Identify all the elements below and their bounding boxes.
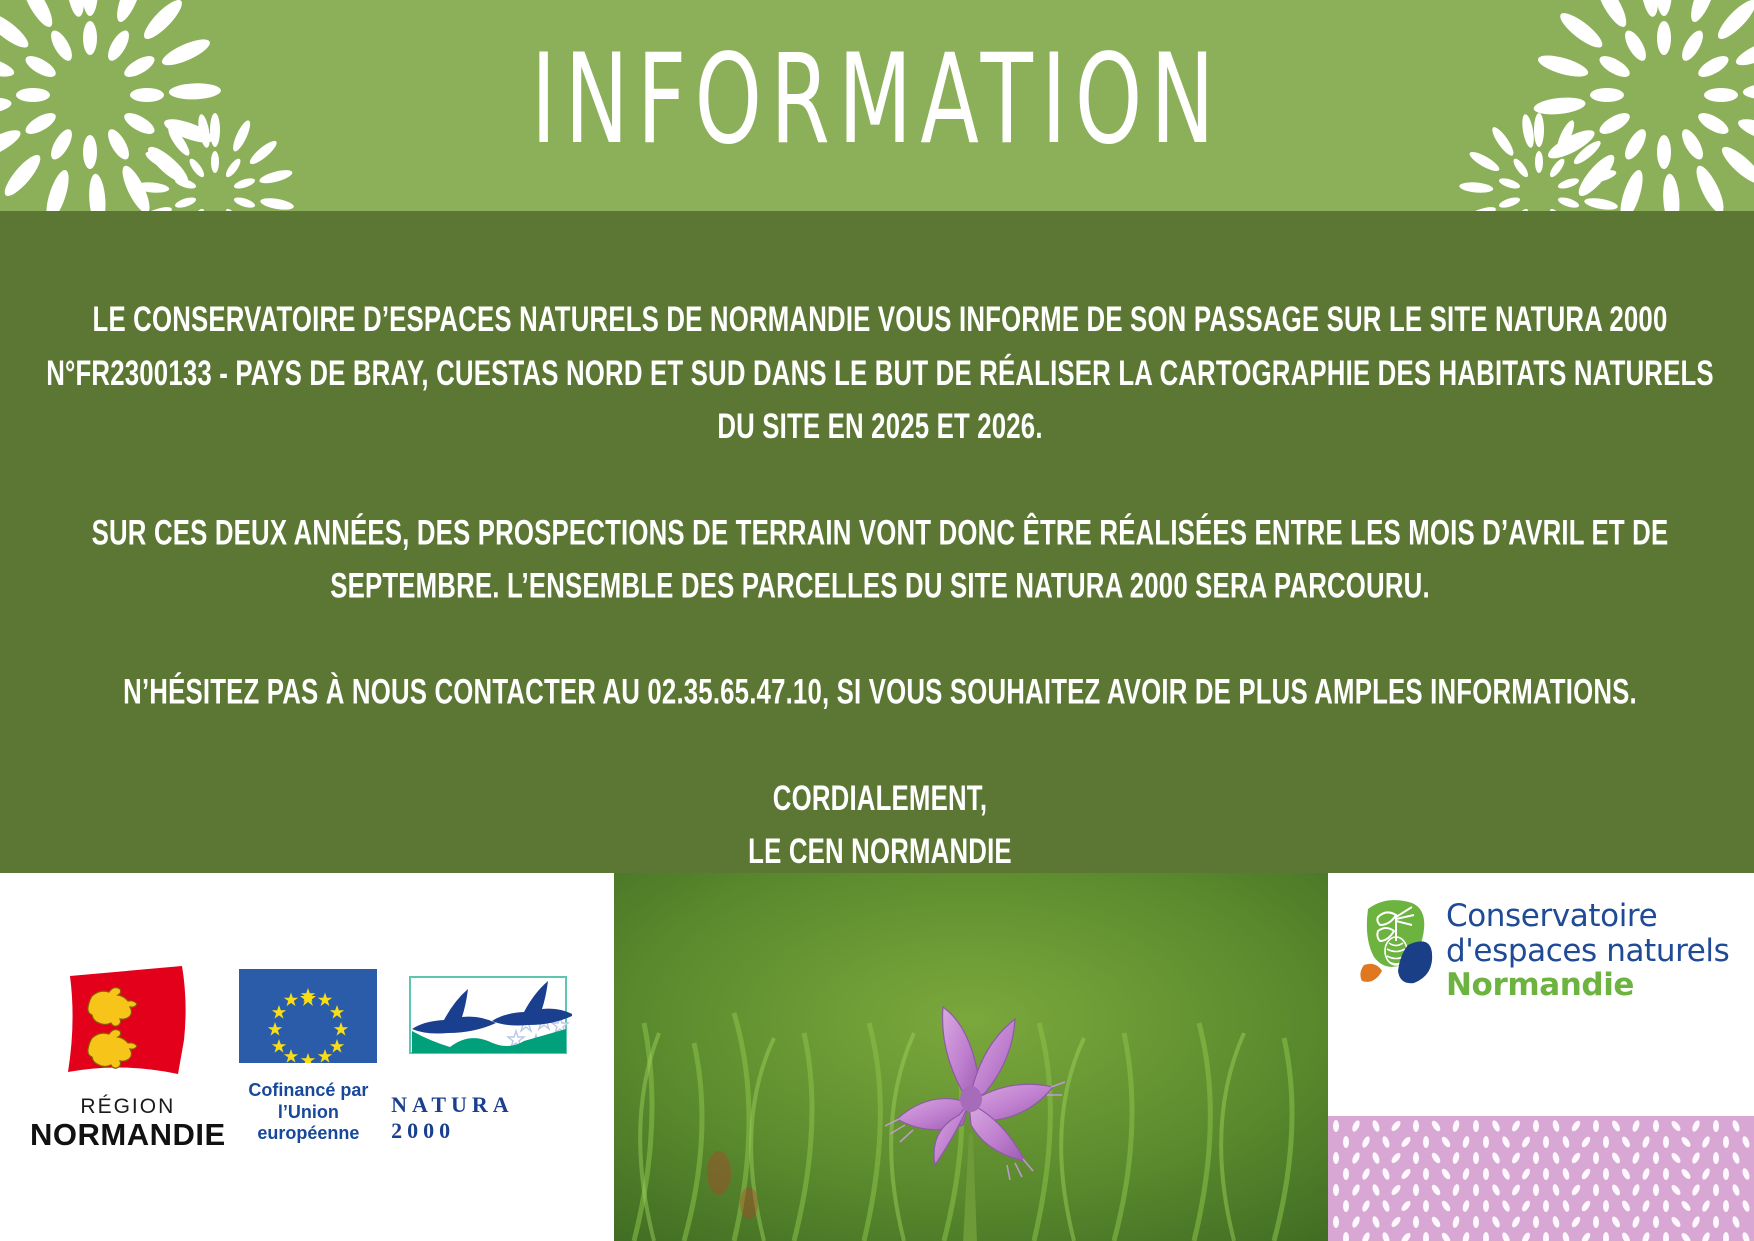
logo-region-normandie: RÉGION NORMANDIE	[30, 962, 226, 1152]
eu-label-line1: Cofinancé par	[248, 1080, 368, 1100]
cen-line-2: d'espaces naturels	[1446, 934, 1729, 969]
paragraph-spacer	[33, 720, 1727, 772]
cen-wordmark: Conservatoire d'espaces naturels Normand…	[1446, 891, 1729, 1003]
paragraph-spacer	[33, 454, 1727, 506]
cen-line-3: Normandie	[1446, 968, 1729, 1003]
page-title: INFORMATION	[61, 38, 1692, 162]
logo-cen-normandie: Conservatoire d'espaces naturels Normand…	[1328, 873, 1754, 1241]
gentian-flower-photo	[614, 873, 1328, 1241]
information-poster: INFORMATION LE CONSERVATOIRE D’ESPACES N…	[0, 0, 1754, 1241]
logo-natura-2000: NATURA 2000	[391, 971, 584, 1144]
natura2000-birds-icon	[404, 971, 572, 1084]
poster-header: INFORMATION	[0, 0, 1754, 233]
cen-line-1: Conservatoire	[1446, 899, 1729, 934]
region-label-big: NORMANDIE	[30, 1119, 226, 1152]
cen-leaf-butterfly-icon	[1356, 891, 1436, 996]
paragraph-3-contact: N’HÉSITEZ PAS À NOUS CONTACTER AU 02.35.…	[33, 666, 1727, 720]
announcement-text: LE CONSERVATOIRE D’ESPACES NATURELS DE N…	[33, 293, 1727, 879]
poster-footer: RÉGION NORMANDIE	[0, 873, 1754, 1241]
partner-logos: RÉGION NORMANDIE	[0, 873, 614, 1241]
natura2000-label: NATURA 2000	[391, 1092, 584, 1144]
eu-flag-icon	[239, 969, 377, 1068]
normandy-lions-flag-icon	[62, 962, 194, 1085]
eu-label-line2: l’Union européenne	[257, 1102, 359, 1144]
signoff-line-1: CORDIALEMENT,	[33, 772, 1727, 826]
signoff-line-2: LE CEN NORMANDIE	[33, 825, 1727, 879]
cen-logo-row: Conservatoire d'espaces naturels Normand…	[1356, 891, 1729, 1003]
paragraph-2: SUR CES DEUX ANNÉES, DES PROSPECTIONS DE…	[33, 506, 1727, 614]
paragraph-1: LE CONSERVATOIRE D’ESPACES NATURELS DE N…	[33, 293, 1727, 454]
poster-body: LE CONSERVATOIRE D’ESPACES NATURELS DE N…	[0, 211, 1754, 873]
region-label-small: RÉGION	[80, 1095, 175, 1119]
logo-european-union: Cofinancé par l’Union européenne	[226, 969, 392, 1146]
decorative-dot-pattern	[1328, 1116, 1754, 1241]
eu-label: Cofinancé par l’Union européenne	[226, 1080, 392, 1146]
paragraph-spacer	[33, 614, 1727, 666]
